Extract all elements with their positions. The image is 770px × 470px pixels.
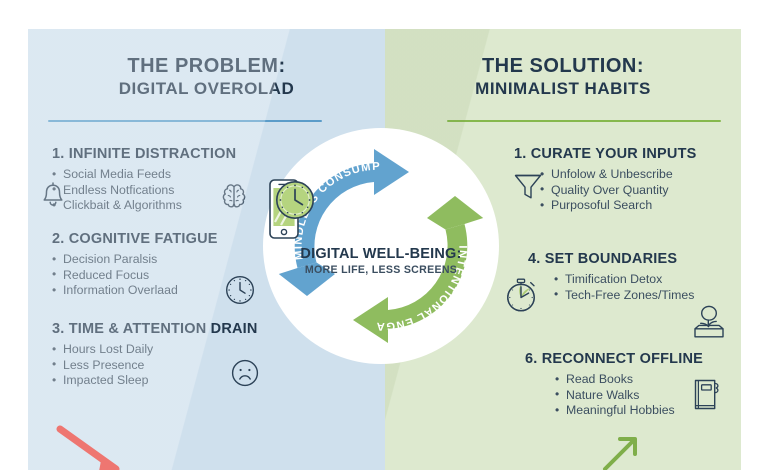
solution-section-6: 6. RECONNECT OFFLINE Read Books Nature W… xyxy=(525,351,703,419)
problem-title-line1: THE PROBLEM: xyxy=(28,54,385,78)
solution-section-1-heading: 1. CURATE YOUR INPUTS xyxy=(514,146,697,163)
problem-section-3-heading: 3. TIME & ATTENTION DRAIN xyxy=(52,321,258,338)
problem-title: THE PROBLEM: DIGITAL OVEROLAD xyxy=(28,54,385,100)
problem-section-2-bullets: Decision Paralsis Reduced Focus Informat… xyxy=(52,252,218,299)
solution-section-4: 4. SET BOUNDARIES Timification Detox Tec… xyxy=(528,251,694,303)
sad-face-icon xyxy=(230,358,260,388)
list-item: Unfolow & Unbescribe xyxy=(540,167,697,183)
wheel-center-line1: DIGITAL WELL-BEING: xyxy=(263,246,499,263)
list-item: Social Media Feeds xyxy=(52,167,236,183)
solution-section-6-bullets: Read Books Nature Walks Meaningful Hobbi… xyxy=(555,372,703,419)
list-item: Tech-Free Zones/Times xyxy=(554,288,694,304)
list-item: Impacted Sleep xyxy=(52,373,258,389)
list-item: Nature Walks xyxy=(555,388,703,404)
solution-title-line2: MINIMALIST HABITS xyxy=(385,78,741,100)
problem-section-2-heading: 2. COGNITIVE FATIGUE xyxy=(52,231,218,248)
solution-section-6-heading: 6. RECONNECT OFFLINE xyxy=(525,351,703,368)
list-item: Purposoful Search xyxy=(540,198,697,214)
problem-title-line2: DIGITAL OVEROLAD xyxy=(28,78,385,100)
solution-divider xyxy=(447,120,721,122)
wheel-center-line2: MORE LIFE, LESS SCREENS xyxy=(263,263,499,277)
problem-section-1-heading: 1. INFINITE DISTRACTION xyxy=(52,146,236,163)
solution-section-4-bullets: Timification Detox Tech-Free Zones/Times xyxy=(554,272,694,303)
funnel-icon xyxy=(513,171,543,203)
problem-divider xyxy=(48,120,322,122)
infographic-poster: THE PROBLEM: DIGITAL OVEROLAD 1. INFINIT… xyxy=(0,0,770,470)
list-item: Decision Paralsis xyxy=(52,252,218,268)
solution-section-1-bullets: Unfolow & Unbescribe Quality Over Quanti… xyxy=(540,167,697,214)
problem-section-3-bullets: Hours Lost Daily Less Presence Impacted … xyxy=(52,342,258,389)
green-up-right-arrow-icon xyxy=(599,427,659,470)
problem-section-3: 3. TIME & ATTENTION DRAIN Hours Lost Dai… xyxy=(52,321,258,389)
problem-section-2: 2. COGNITIVE FATIGUE Decision Paralsis R… xyxy=(52,231,218,299)
bell-icon xyxy=(40,181,66,209)
solution-title: THE SOLUTION: MINIMALIST HABITS xyxy=(385,54,741,100)
digital-wellbeing-wheel: MINDLESS CONSUMPTION INTENTIONAL ENGAGEM… xyxy=(263,128,499,364)
tree-park-icon xyxy=(691,303,727,341)
list-item: Meaningful Hobbies xyxy=(555,403,703,419)
clock-icon xyxy=(273,178,317,222)
list-item: Endless Notfications xyxy=(52,183,236,199)
list-item: Reduced Focus xyxy=(52,268,218,284)
solution-section-4-heading: 4. SET BOUNDARIES xyxy=(528,251,694,268)
list-item: Timification Detox xyxy=(554,272,694,288)
list-item: Read Books xyxy=(555,372,703,388)
list-item: Quality Over Quantity xyxy=(540,183,697,199)
problem-section-1-bullets: Social Media Feeds Endless Notfications … xyxy=(52,167,236,214)
brain-icon xyxy=(218,182,250,210)
clock-icon xyxy=(224,274,256,306)
red-down-arrow-icon xyxy=(42,425,162,470)
book-icon xyxy=(690,377,724,413)
list-item: Information Overlaad xyxy=(52,283,218,299)
list-item: Hours Lost Daily xyxy=(52,342,258,358)
stopwatch-icon xyxy=(502,275,542,315)
solution-title-line1: THE SOLUTION: xyxy=(385,54,741,78)
list-item: Clickbait & Algorithms xyxy=(52,198,236,214)
list-item: Less Presence xyxy=(52,358,258,374)
problem-section-1: 1. INFINITE DISTRACTION Social Media Fee… xyxy=(52,146,236,214)
wheel-center-text: DIGITAL WELL-BEING: MORE LIFE, LESS SCRE… xyxy=(263,246,499,277)
